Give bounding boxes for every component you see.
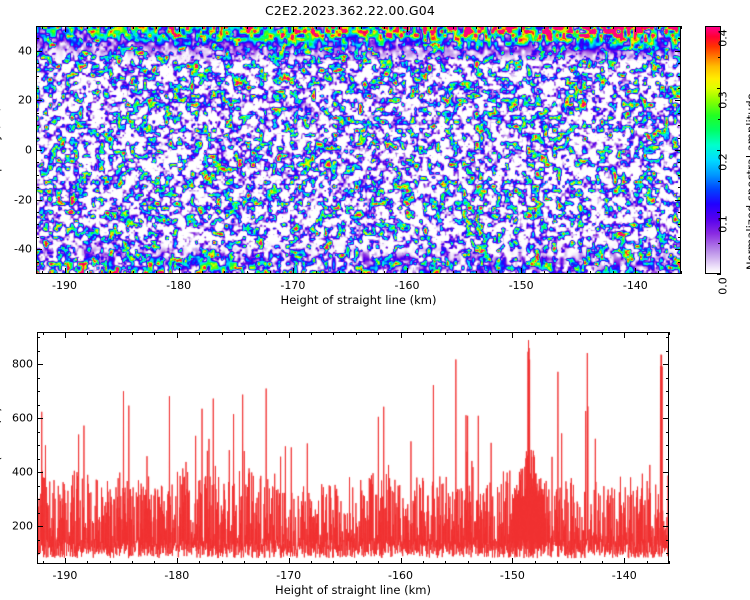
x-axis-title: Height of straight line (km) <box>275 583 431 597</box>
y-tick-label: 400 <box>3 466 33 479</box>
spectrogram-panel <box>36 26 681 274</box>
x-tick-label: -180 <box>166 279 191 292</box>
y-tick-label: 800 <box>3 358 33 371</box>
colorbar-tick-label: 0.0 <box>717 274 730 298</box>
page-title: C2E2.2023.362.22.00.G04 <box>0 3 700 18</box>
x-tick-label: -190 <box>52 279 77 292</box>
y-tick-label: 40 <box>2 44 32 57</box>
x-tick-label: -160 <box>395 279 420 292</box>
y-tick-label: 600 <box>3 412 33 425</box>
x-tick-label: -190 <box>52 569 77 582</box>
y-tick-label: 20 <box>2 94 32 107</box>
y-tick-label: -40 <box>2 243 32 256</box>
snr-line-plot <box>38 333 668 563</box>
colorbar-label: Normalized spectral amplitude <box>744 93 750 270</box>
colorbar <box>705 26 721 274</box>
y-axis-title: SNR (10 * v/v) <box>0 407 3 489</box>
snr-panel <box>37 332 669 564</box>
x-axis-title: Height of straight line (km) <box>281 293 437 307</box>
x-tick-label: -150 <box>509 279 534 292</box>
x-tick-label: -180 <box>164 569 189 582</box>
figure-root: C2E2.2023.362.22.00.G04 -190-180-170-160… <box>0 0 750 600</box>
y-axis-title: Frequency (Hz) <box>0 107 2 194</box>
y-tick-label: -20 <box>2 193 32 206</box>
y-tick-label: 200 <box>3 520 33 533</box>
spectrogram-image <box>37 27 680 273</box>
x-tick-label: -140 <box>612 569 637 582</box>
x-tick-label: -170 <box>280 279 305 292</box>
x-tick-label: -160 <box>388 569 413 582</box>
x-tick-label: -170 <box>276 569 301 582</box>
y-tick-label: 0 <box>2 144 32 157</box>
x-tick-label: -140 <box>623 279 648 292</box>
colorbar-tick <box>717 274 721 275</box>
x-tick-label: -150 <box>500 569 525 582</box>
